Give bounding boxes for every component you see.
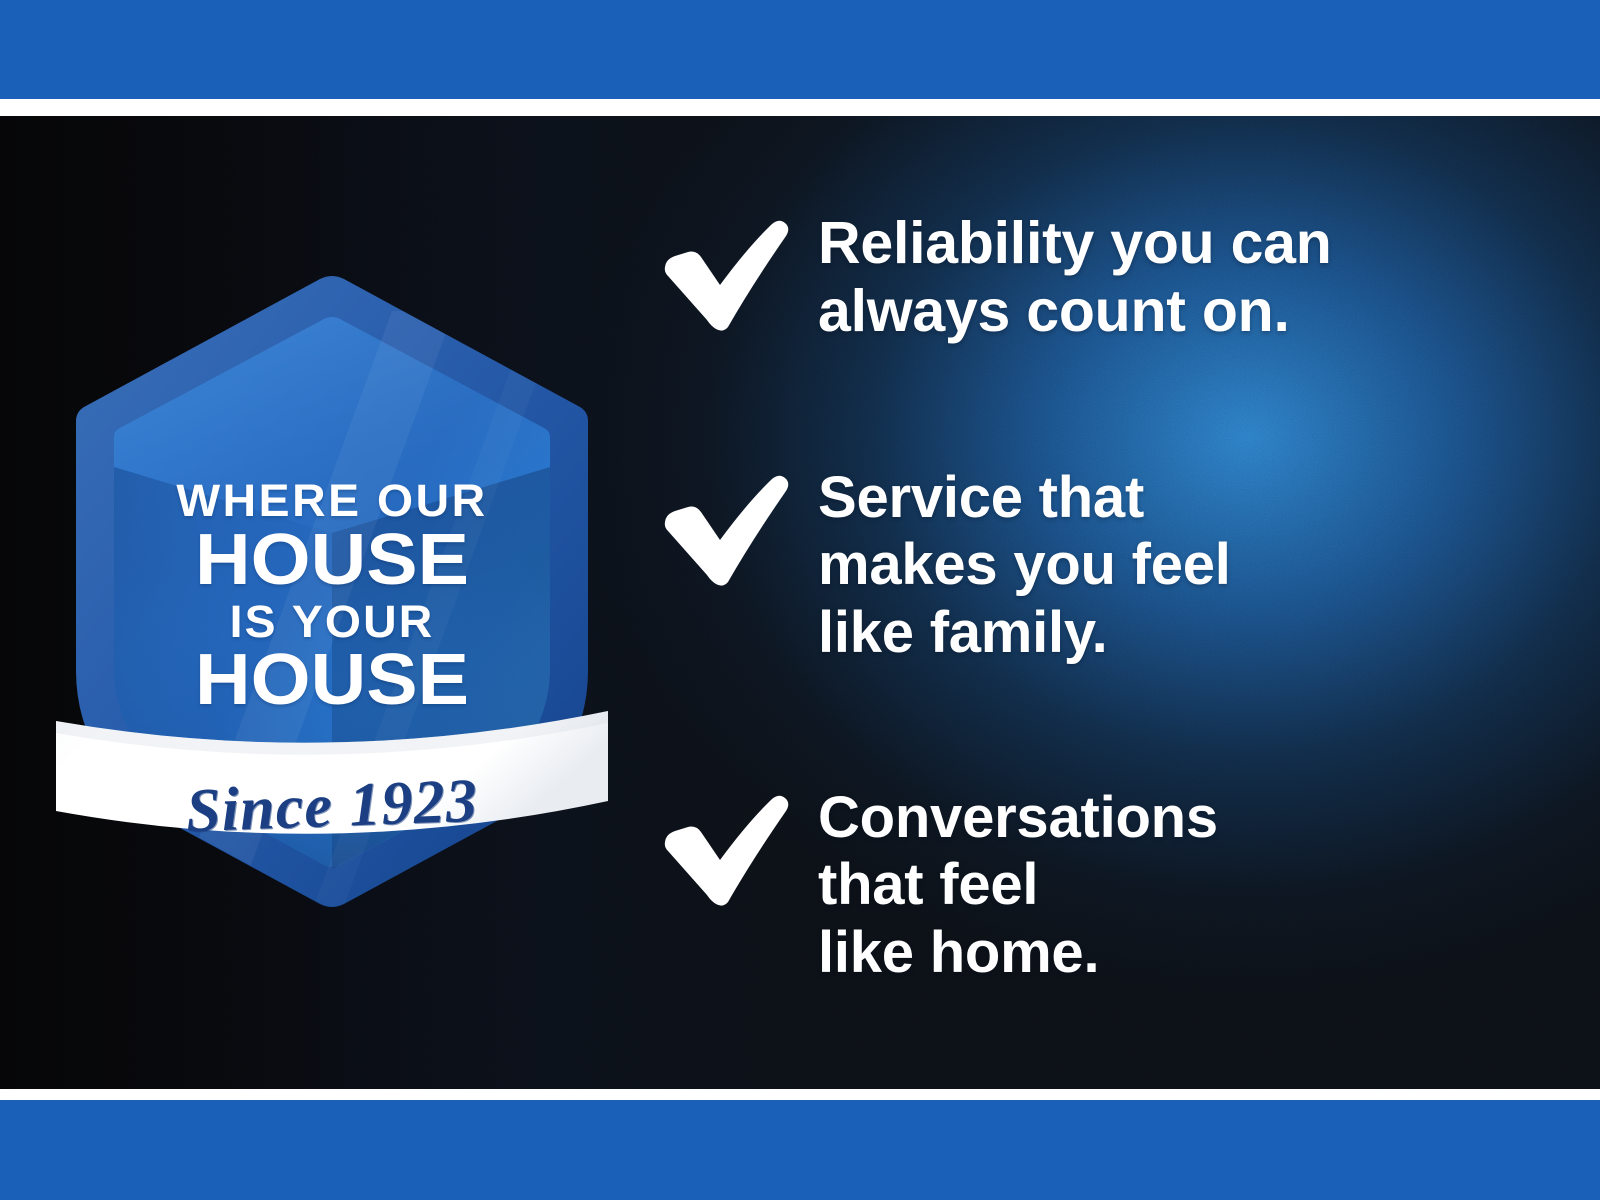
check-icon [660, 219, 792, 331]
benefit-line: like family. [818, 599, 1560, 666]
benefit-line: Service that [818, 464, 1560, 531]
badge-line-is-your: IS YOUR [54, 599, 610, 644]
check-icon-wrapper [660, 784, 818, 906]
benefit-item: Reliability you can always count on. [660, 209, 1560, 346]
benefit-line: like home. [818, 919, 1560, 986]
check-icon-wrapper [660, 464, 818, 586]
benefit-line: always count on. [818, 277, 1560, 345]
benefits-list: Reliability you can always count on. Ser… [660, 116, 1560, 1089]
badge-line-house-1: HOUSE [43, 524, 621, 596]
benefit-text: Conversations that feel like home. [818, 784, 1560, 986]
benefit-line: Reliability you can [818, 209, 1560, 277]
benefit-item: Conversations that feel like home. [660, 784, 1560, 986]
benefit-line: makes you feel [818, 531, 1560, 598]
benefit-line: that feel [818, 851, 1560, 918]
badge-line-house-2: HOUSE [43, 644, 621, 716]
promo-graphic: WHERE OUR HOUSE IS YOUR HOUSE Since 1923… [0, 0, 1600, 1200]
badge-line-where-our: WHERE OUR [54, 478, 610, 523]
check-icon-wrapper [660, 209, 818, 331]
check-icon [660, 794, 792, 906]
bottom-accent-bar [0, 1100, 1600, 1200]
main-canvas: WHERE OUR HOUSE IS YOUR HOUSE Since 1923… [0, 116, 1600, 1089]
benefit-item: Service that makes you feel like family. [660, 464, 1560, 666]
shield-badge: WHERE OUR HOUSE IS YOUR HOUSE Since 1923 [62, 271, 602, 911]
top-accent-bar [0, 0, 1600, 99]
benefit-text: Service that makes you feel like family. [818, 464, 1560, 666]
check-icon [660, 474, 792, 586]
benefit-line: Conversations [818, 784, 1560, 851]
benefit-text: Reliability you can always count on. [818, 209, 1560, 346]
top-white-divider [0, 99, 1600, 116]
bottom-white-divider [0, 1089, 1600, 1100]
